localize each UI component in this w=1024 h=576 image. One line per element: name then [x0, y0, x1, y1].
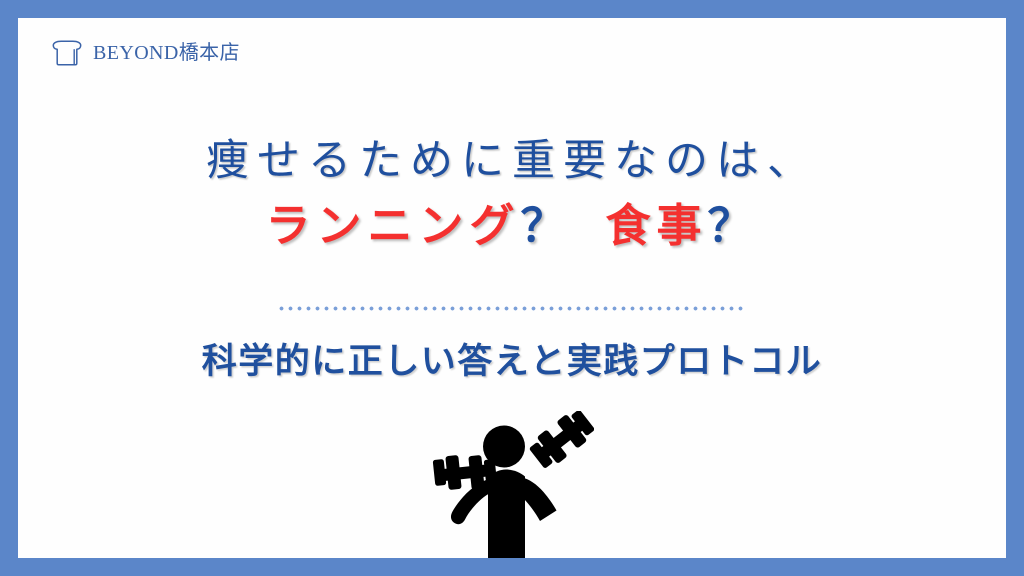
headline-line-2: ランニング？食事？ [18, 199, 1006, 252]
headline-line-1: 痩せるために重要なのは、 [18, 136, 1006, 187]
slide-canvas: BEYOND橋本店 痩せるために重要なのは、 ランニング？食事？ 科学的に正しい… [18, 18, 1006, 558]
headline-block: 痩せるために重要なのは、 ランニング？食事？ [18, 136, 1006, 252]
headline-option-diet: 食事 [606, 200, 708, 251]
brand-logo: BEYOND橋本店 [52, 40, 240, 66]
slide-root: BEYOND橋本店 痩せるために重要なのは、 ランニング？食事？ 科学的に正しい… [0, 0, 1024, 576]
dotted-divider [277, 306, 747, 311]
bread-slice-icon [52, 40, 82, 66]
headline-option-running: ランニング [265, 200, 520, 251]
headline-option-diet-questionmark: ？ [708, 200, 759, 251]
brand-name: BEYOND橋本店 [93, 43, 240, 63]
person-lifting-dumbbells-icon [430, 411, 594, 558]
headline-option-running-questionmark: ？ [520, 200, 571, 251]
subtitle: 科学的に正しい答えと実践プロトコル [18, 333, 1006, 384]
